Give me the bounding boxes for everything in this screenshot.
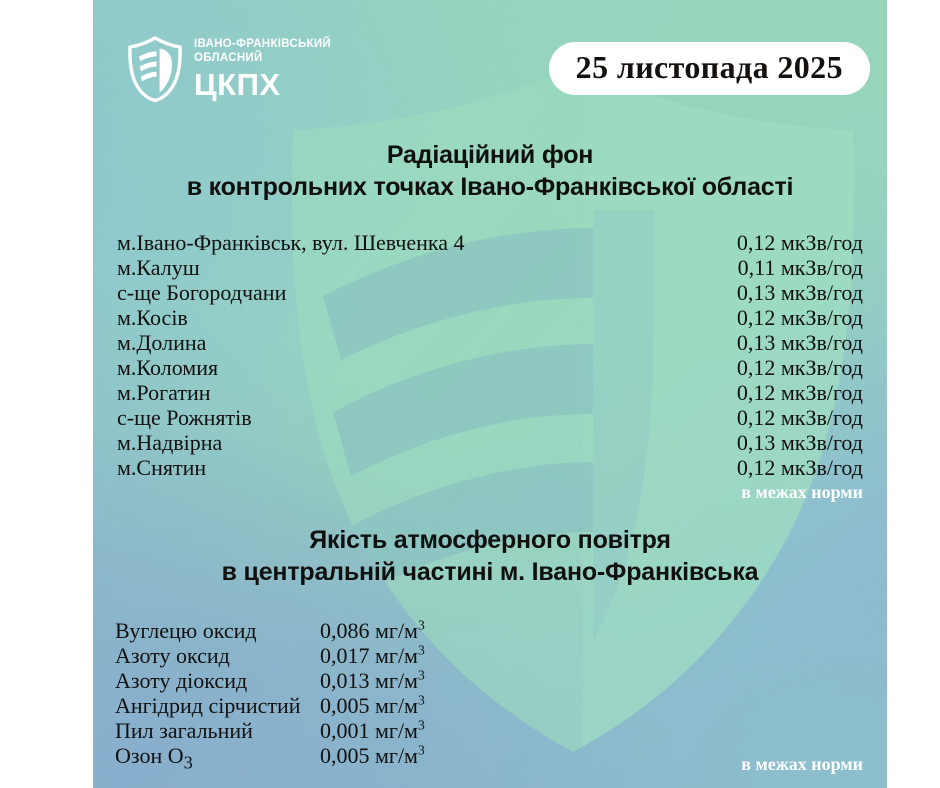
- location-label: м.Калуш: [117, 257, 200, 279]
- dose-value: 0,12 мкЗв/год: [737, 382, 863, 404]
- dose-value: 0,13 мкЗв/год: [737, 282, 863, 304]
- dose-value: 0,11 мкЗв/год: [738, 257, 863, 279]
- location-label: с-ще Рожнятів: [117, 407, 252, 429]
- brand-logo: ІВАНО-ФРАНКІВСЬКИЙ ОБЛАСНИЙ ЦКПХ: [127, 36, 331, 102]
- brand-line-1: ІВАНО-ФРАНКІВСЬКИЙ: [194, 39, 331, 51]
- location-label: с-ще Богородчани: [117, 282, 286, 304]
- unit-exponent: 3: [418, 618, 425, 633]
- table-row: м.Калуш 0,11 мкЗв/год: [117, 257, 863, 282]
- concentration-value: 0,001 мг/м3: [320, 720, 425, 742]
- brand-text: ІВАНО-ФРАНКІВСЬКИЙ ОБЛАСНИЙ ЦКПХ: [194, 39, 331, 100]
- table-row: Озон О3 0,005 мг/м3: [115, 745, 545, 770]
- concentration-value: 0,086 мг/м3: [320, 620, 425, 642]
- location-label: м.Коломия: [117, 357, 218, 379]
- pollutant-label: Вуглецю оксид: [115, 620, 320, 642]
- pollutant-label: Озон О3: [115, 745, 320, 772]
- dose-value: 0,12 мкЗв/год: [737, 357, 863, 379]
- table-row: с-ще Богородчани 0,13 мкЗв/год: [117, 282, 863, 307]
- location-label: м.Долина: [117, 332, 206, 354]
- unit-exponent: 3: [418, 743, 425, 758]
- ozone-subscript: 3: [184, 752, 193, 772]
- unit-exponent: 3: [418, 693, 425, 708]
- concentration-value: 0,005 мг/м3: [320, 745, 425, 767]
- unit-exponent: 3: [418, 668, 425, 683]
- unit-exponent: 3: [418, 718, 425, 733]
- unit-exponent: 3: [418, 643, 425, 658]
- pollutant-label: Пил загальний: [115, 720, 320, 742]
- dose-value: 0,12 мкЗв/год: [737, 232, 863, 254]
- air-quality-table: Вуглецю оксид 0,086 мг/м3 Азоту оксид 0,…: [115, 620, 545, 770]
- table-row: м.Косів 0,12 мкЗв/год: [117, 307, 863, 332]
- poster-canvas: ІВАНО-ФРАНКІВСЬКИЙ ОБЛАСНИЙ ЦКПХ 25 лист…: [93, 0, 887, 788]
- concentration-value: 0,017 мг/м3: [320, 645, 425, 667]
- air-title-line-1: Якість атмосферного повітря: [93, 524, 887, 556]
- date-badge: 25 листопада 2025: [549, 42, 870, 95]
- table-row: с-ще Рожнятів 0,12 мкЗв/год: [117, 407, 863, 432]
- table-row: Ангідрид сірчистий 0,005 мг/м3: [115, 695, 545, 720]
- concentration-value: 0,013 мг/м3: [320, 670, 425, 692]
- air-section-title: Якість атмосферного повітря в центральні…: [93, 524, 887, 588]
- radiation-section-title: Радіаційний фон в контрольних точках Іва…: [93, 139, 887, 203]
- table-row: Пил загальний 0,001 мг/м3: [115, 720, 545, 745]
- concentration-value: 0,005 мг/м3: [320, 695, 425, 717]
- air-status-badge: в межах норми: [741, 754, 863, 775]
- table-row: Вуглецю оксид 0,086 мг/м3: [115, 620, 545, 645]
- air-title-line-2: в центральній частині м. Івано-Франківсь…: [93, 556, 887, 588]
- dose-value: 0,13 мкЗв/год: [737, 332, 863, 354]
- table-row: м.Коломия 0,12 мкЗв/год: [117, 357, 863, 382]
- location-label: м.Косів: [117, 307, 188, 329]
- shield-logo-icon: [127, 36, 183, 102]
- table-row: м.Долина 0,13 мкЗв/год: [117, 332, 863, 357]
- radiation-status-badge: в межах норми: [741, 482, 863, 503]
- table-row: м.Рогатин 0,12 мкЗв/год: [117, 382, 863, 407]
- table-row: Азоту оксид 0,017 мг/м3: [115, 645, 545, 670]
- pollutant-label: Ангідрид сірчистий: [115, 695, 320, 717]
- brand-abbreviation: ЦКПХ: [194, 69, 331, 100]
- dose-value: 0,12 мкЗв/год: [737, 457, 863, 479]
- pollutant-label: Азоту оксид: [115, 645, 320, 667]
- dose-value: 0,12 мкЗв/год: [737, 407, 863, 429]
- dose-value: 0,12 мкЗв/год: [737, 307, 863, 329]
- location-label: м.Надвірна: [117, 432, 222, 454]
- table-row: м.Івано-Франківськ, вул. Шевченка 4 0,12…: [117, 232, 863, 257]
- brand-line-2: ОБЛАСНИЙ: [194, 53, 331, 65]
- table-row: м.Снятин 0,12 мкЗв/год: [117, 457, 863, 482]
- radiation-measurements-table: м.Івано-Франківськ, вул. Шевченка 4 0,12…: [117, 232, 863, 482]
- radiation-title-line-1: Радіаційний фон: [93, 139, 887, 171]
- table-row: м.Надвірна 0,13 мкЗв/год: [117, 432, 863, 457]
- location-label: м.Рогатин: [117, 382, 211, 404]
- dose-value: 0,13 мкЗв/год: [737, 432, 863, 454]
- table-row: Азоту діоксид 0,013 мг/м3: [115, 670, 545, 695]
- pollutant-label: Азоту діоксид: [115, 670, 320, 692]
- location-label: м.Івано-Франківськ, вул. Шевченка 4: [117, 232, 465, 254]
- radiation-title-line-2: в контрольних точках Івано-Франківської …: [93, 171, 887, 203]
- location-label: м.Снятин: [117, 457, 206, 479]
